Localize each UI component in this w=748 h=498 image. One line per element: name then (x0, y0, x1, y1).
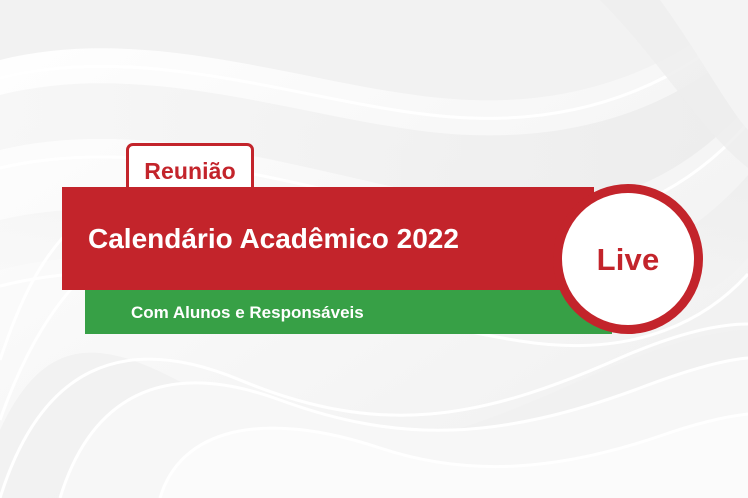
poster-canvas: Reunião Com Alunos e Responsáveis Calend… (0, 0, 748, 498)
subtitle-band: Com Alunos e Responsáveis (85, 290, 612, 334)
title-text: Calendário Acadêmico 2022 (88, 225, 459, 253)
badge-reuniao-label: Reunião (144, 160, 235, 183)
live-badge: Live (553, 184, 703, 334)
subtitle-text: Com Alunos e Responsáveis (131, 304, 364, 321)
live-badge-label: Live (597, 244, 660, 275)
title-band: Calendário Acadêmico 2022 (62, 187, 594, 290)
